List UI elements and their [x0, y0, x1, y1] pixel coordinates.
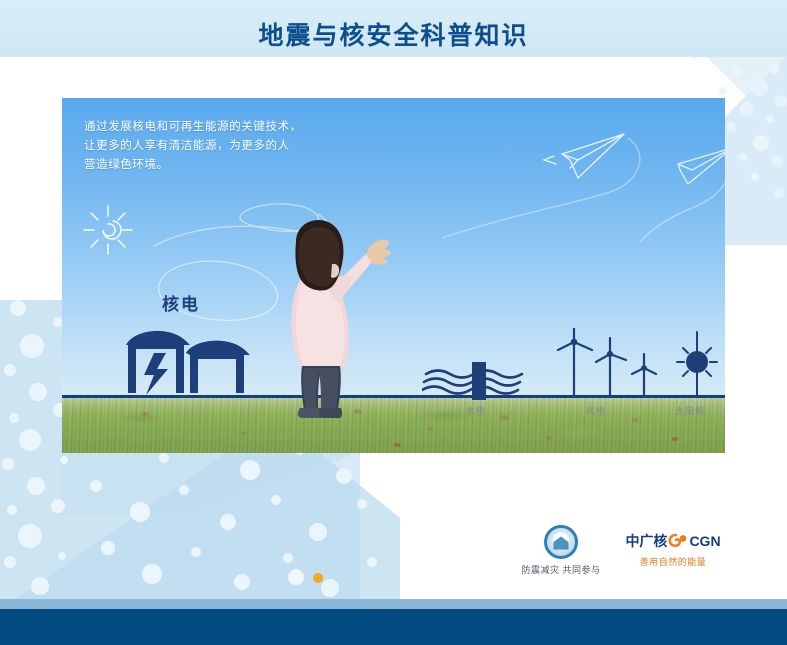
- energy-label-wind: 风电: [586, 404, 606, 417]
- wind-turbine-icon: [552, 328, 672, 398]
- hero-photo: 通过发展核电和可再生能源的关键技术， 让更多的人享有清洁能源，为更多的人 营造绿…: [62, 98, 725, 453]
- sun-doodle-icon: [76, 198, 140, 262]
- cgn-wordmark: 中广核CGN: [608, 531, 738, 551]
- earthquake-logo-caption: 防震减灾 共同参与: [516, 563, 606, 576]
- cgn-wordmark-cn: 中广核: [625, 533, 667, 549]
- hydro-dam-icon: [422, 360, 542, 402]
- cgn-swirl-icon: [668, 533, 688, 548]
- accent-dot-orange-2: [313, 573, 323, 583]
- energy-label-nuclear: 核电: [162, 290, 200, 315]
- caption-line-1: 通过发展核电和可再生能源的关键技术，: [84, 118, 302, 137]
- solar-sun-icon: [662, 330, 725, 398]
- energy-label-solar: 太阳能: [675, 404, 705, 417]
- footer-bar: [0, 609, 787, 645]
- cgn-wordmark-en: CGN: [689, 533, 720, 549]
- logo-row: 防震减灾 共同参与 中广核CGN 善用自然的能量: [500, 525, 740, 587]
- cgn-logo-caption: 善用自然的能量: [608, 555, 738, 568]
- page-title: 地震与核安全科普知识: [0, 16, 787, 52]
- photo-caption: 通过发展核电和可再生能源的关键技术， 让更多的人享有清洁能源，为更多的人 营造绿…: [84, 118, 302, 175]
- caption-line-2: 让更多的人享有清洁能源，为更多的人: [84, 137, 302, 156]
- decor-bubble-highlight: [288, 569, 304, 585]
- earthquake-prevention-logo: 防震减灾 共同参与: [516, 525, 606, 576]
- cgn-logo: 中广核CGN 善用自然的能量: [608, 531, 738, 568]
- footer-strip: [0, 599, 787, 609]
- caption-line-3: 营造绿色环境。: [84, 156, 302, 175]
- nuclear-plant-icon: [124, 323, 254, 398]
- decor-wedge-b: [0, 450, 360, 610]
- energy-label-hydro: 水电: [466, 404, 486, 417]
- child-figure: [252, 218, 412, 418]
- circular-seal-icon: [544, 525, 578, 559]
- page-header: 地震与核安全科普知识: [0, 0, 787, 57]
